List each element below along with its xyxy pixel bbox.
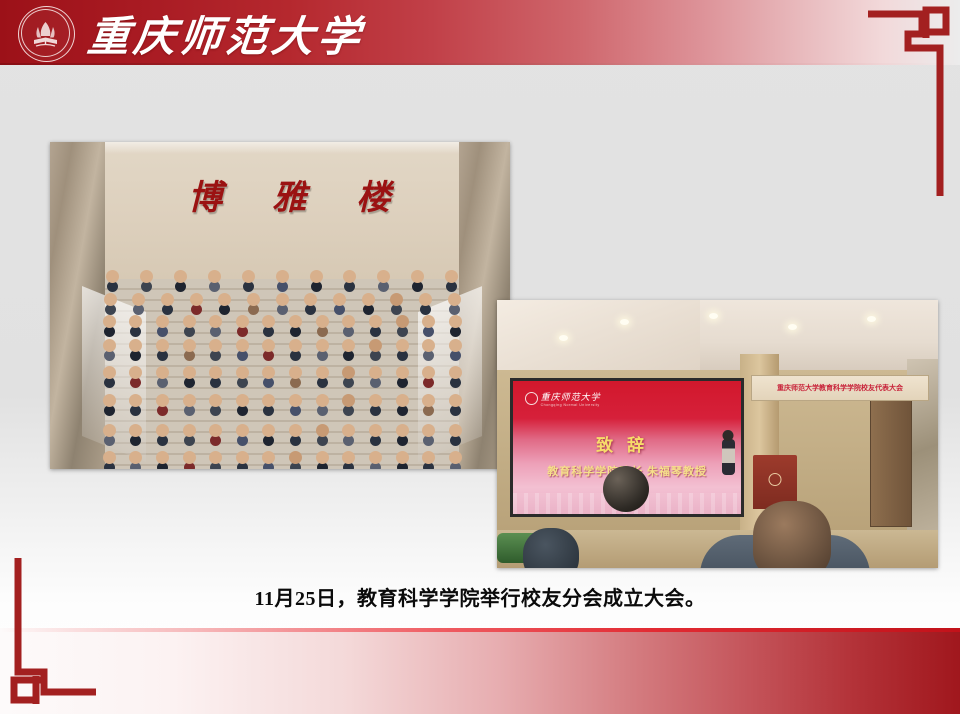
caption-text: 11月25日，教育科学学院举行校友分会成立大会。 — [255, 588, 706, 610]
university-name-text: 重庆师范大学 — [85, 3, 367, 64]
speaker-figure — [722, 439, 735, 475]
led-screen-logo-icon: 重庆师范大学 Chongqing Normal University — [525, 390, 601, 407]
photo-group-ceremony: 博 雅 楼 — [50, 142, 510, 469]
decorative-corner-key-icon-bottom-left — [0, 540, 200, 720]
crowd-figures — [96, 266, 469, 469]
building-name-boya-lou: 博 雅 楼 — [188, 162, 390, 227]
hall-banner-text: 重庆师范大学教育科学学院校友代表大会 — [777, 383, 903, 393]
audience-head-foreground — [753, 501, 831, 568]
led-screen-title: 致辞 — [513, 431, 741, 456]
hall-banner: 重庆师范大学教育科学学院校友代表大会 — [751, 375, 929, 401]
led-logo-en-text: Chongqing Normal University — [541, 403, 601, 407]
slide-root: 重庆师范大学 博 雅 楼 — [0, 0, 960, 720]
led-logo-cn-text: 重庆师范大学 — [541, 390, 601, 403]
page-title: 重庆师范大学 — [88, 4, 364, 62]
audience-head-left — [523, 528, 579, 568]
decorative-sphere — [603, 466, 649, 512]
page-header: 重庆师范大学 — [0, 0, 960, 65]
university-seal-icon — [18, 6, 73, 60]
decorative-corner-key-icon-top-right — [850, 0, 960, 200]
photo-conference-hall: 重庆师范大学教育科学学院校友代表大会 重庆师范大学 Chongqing Norm… — [497, 300, 938, 568]
